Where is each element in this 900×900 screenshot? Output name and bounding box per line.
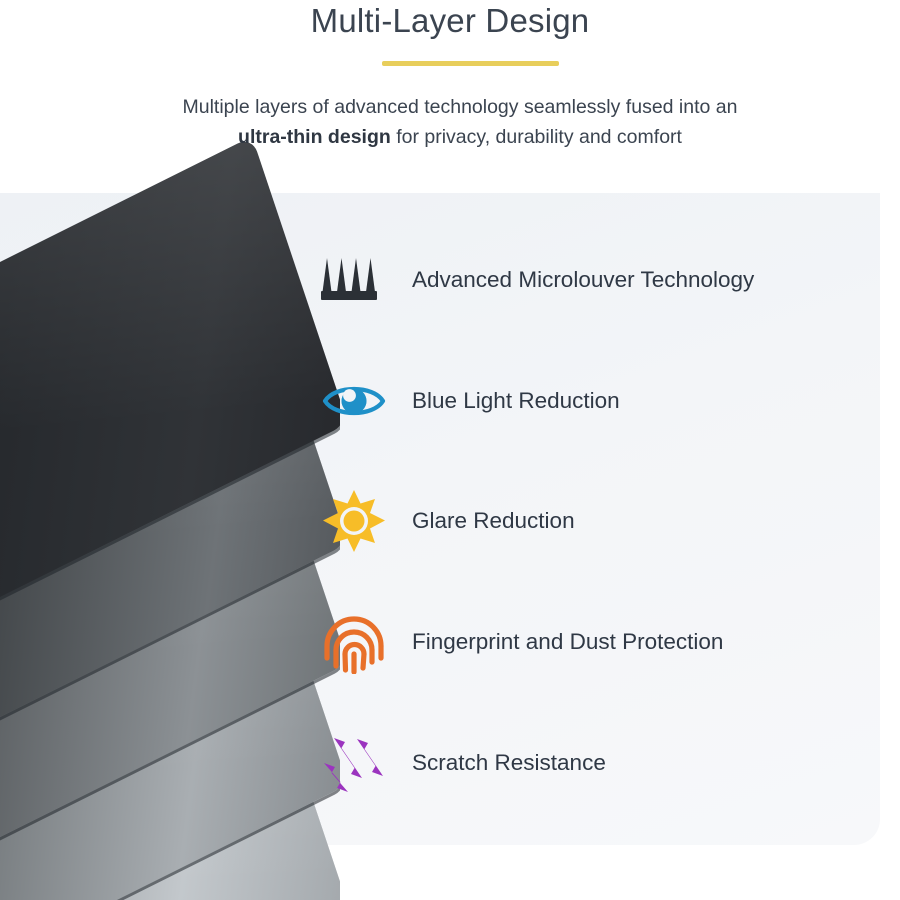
title-underline-rule bbox=[382, 61, 559, 66]
feature-row-glare: Glare Reduction bbox=[318, 483, 878, 559]
sun-icon bbox=[318, 490, 390, 552]
feature-label-glare: Glare Reduction bbox=[412, 508, 575, 534]
page-title: Multi-Layer Design bbox=[0, 2, 900, 40]
feature-row-blue-light: Blue Light Reduction bbox=[318, 363, 878, 439]
feature-row-fingerprint: Fingerprint and Dust Protection bbox=[318, 604, 878, 680]
infographic-canvas: Multi-Layer Design Multiple layers of ad… bbox=[0, 0, 900, 900]
feature-row-microlouver: Advanced Microlouver Technology bbox=[318, 242, 878, 318]
claw-marks-icon bbox=[318, 732, 390, 794]
feature-label-microlouver: Advanced Microlouver Technology bbox=[412, 267, 754, 293]
subtitle-emphasis-text: ultra-thin design bbox=[238, 126, 391, 148]
subtitle-lead-text: Multiple layers of advanced technology s… bbox=[183, 96, 738, 118]
eye-icon bbox=[318, 370, 390, 432]
microlouver-icon bbox=[318, 249, 390, 311]
feature-label-fingerprint: Fingerprint and Dust Protection bbox=[412, 629, 723, 655]
feature-row-scratch: Scratch Resistance bbox=[318, 725, 878, 801]
page-subtitle: Multiple layers of advanced technology s… bbox=[60, 92, 860, 152]
fingerprint-icon bbox=[318, 611, 390, 673]
subtitle-tail-text: for privacy, durability and comfort bbox=[391, 126, 682, 148]
feature-label-scratch: Scratch Resistance bbox=[412, 750, 606, 776]
feature-label-blue-light: Blue Light Reduction bbox=[412, 388, 620, 414]
